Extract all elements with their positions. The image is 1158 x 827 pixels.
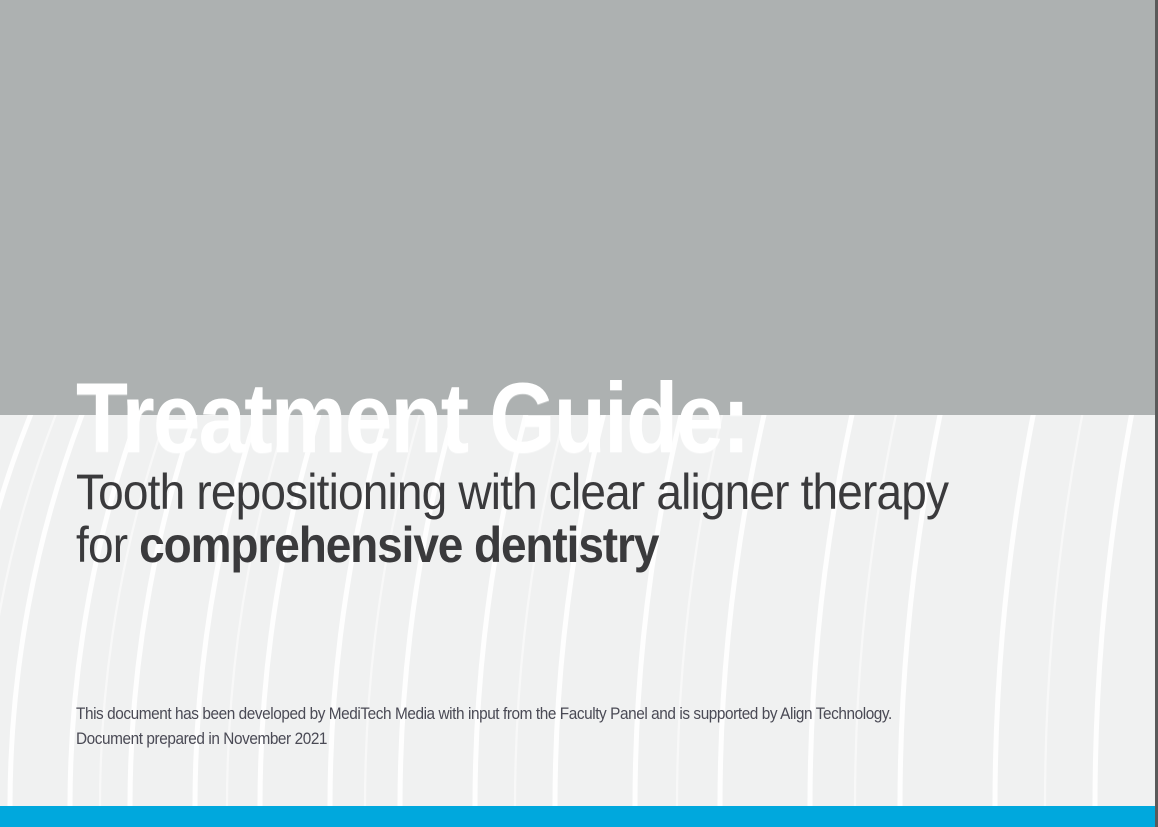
hero-gray-band <box>0 0 1158 415</box>
document-cover-page: Treatment Guide: Tooth repositioning wit… <box>0 0 1158 827</box>
subtitle-line-1: Tooth repositioning with clear aligner t… <box>76 464 948 520</box>
subtitle-line-2-prefix: for <box>76 517 139 573</box>
page-subtitle: Tooth repositioning with clear aligner t… <box>76 466 996 572</box>
footnote-line-1: This document has been developed by Medi… <box>76 702 1025 727</box>
bottom-accent-bar <box>0 806 1158 827</box>
page-title: Treatment Guide: <box>76 366 749 470</box>
attribution-footnote: This document has been developed by Medi… <box>76 702 1025 752</box>
subtitle-line-2-emphasis: comprehensive dentistry <box>139 517 658 573</box>
footnote-line-2: Document prepared in November 2021 <box>76 727 1025 752</box>
